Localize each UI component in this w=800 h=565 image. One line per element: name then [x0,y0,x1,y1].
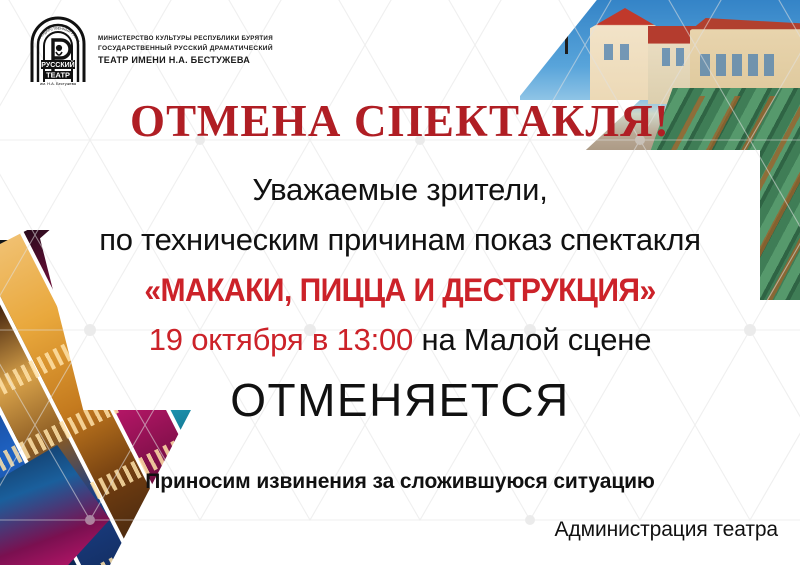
svg-text:им. Н.А. Бестужева: им. Н.А. Бестужева [40,81,77,86]
page-title: ОТМЕНА СПЕКТАКЛЯ! [0,95,800,147]
svg-text:РУССКИЙ: РУССКИЙ [41,60,74,69]
showtime-line: 19 октября в 13:00 на Малой сцене [0,322,800,358]
ministry-line: МИНИСТЕРСТВО КУЛЬТУРЫ РЕСПУБЛИКИ БУРЯТИЯ [98,35,273,43]
greeting-line: Уважаемые зрители, [0,172,800,208]
signature-line: Администрация театра [555,518,778,542]
apology-line: Приносим извинения за сложившуюся ситуац… [0,470,800,494]
theatre-header: РУССКИЙ ТЕАТР им. Н.А. Бестужева ГОСУДАР… [28,16,273,86]
svg-text:ТЕАТР: ТЕАТР [46,70,70,79]
theatre-name-line: ТЕАТР ИМЕНИ Н.А. БЕСТУЖЕВА [98,55,273,67]
theatre-type-line: ГОСУДАРСТВЕННЫЙ РУССКИЙ ДРАМАТИЧЕСКИЙ [98,45,273,53]
showtime-venue: на Малой сцене [422,322,652,357]
russian-theatre-emblem-icon: РУССКИЙ ТЕАТР им. Н.А. Бестужева ГОСУДАР… [28,16,88,86]
play-title: «МАКАКИ, ПИЦЦА И ДЕСТРУКЦИЯ» [24,272,776,309]
reason-line: по техническим причинам показ спектакля [0,222,800,258]
theatre-logo: РУССКИЙ ТЕАТР им. Н.А. Бестужева ГОСУДАР… [28,16,88,86]
poster-content: РУССКИЙ ТЕАТР им. Н.А. Бестужева ГОСУДАР… [0,0,800,565]
cancelled-word: ОТМЕНЯЕТСЯ [0,373,800,427]
organization-names: МИНИСТЕРСТВО КУЛЬТУРЫ РЕСПУБЛИКИ БУРЯТИЯ… [98,35,273,67]
cancellation-poster: РУССКИЙ ТЕАТР им. Н.А. Бестужева ГОСУДАР… [0,0,800,565]
showtime-date: 19 октября в 13:00 [149,322,413,357]
